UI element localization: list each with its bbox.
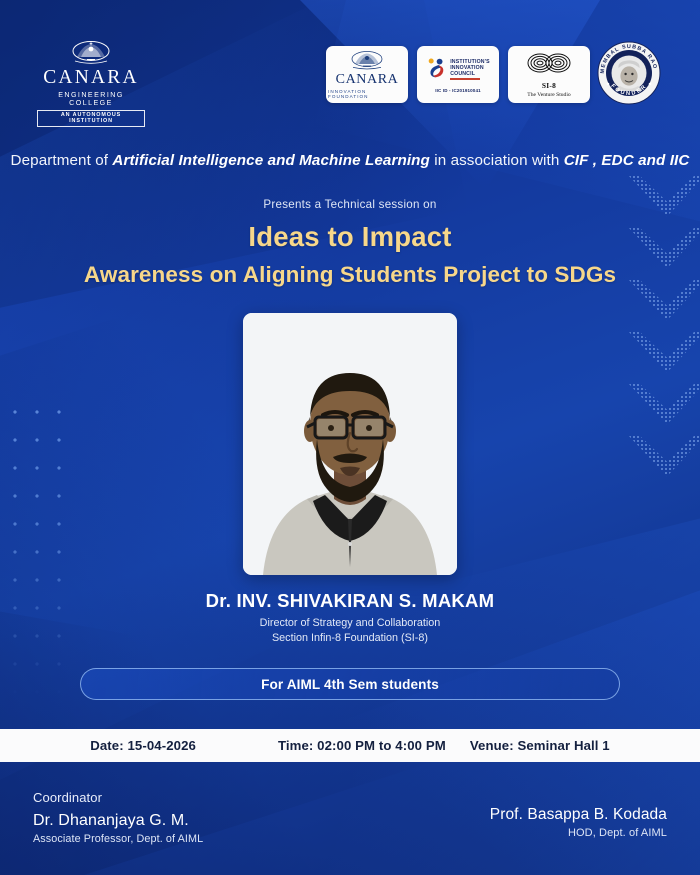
- partner-logo-cif: CANARA INNOVATION FOUNDATION: [326, 46, 408, 103]
- si8-subtitle: The Venture Studio: [527, 92, 570, 98]
- partners-inline: CIF , EDC and IIC: [564, 152, 690, 169]
- tree-crest-icon: [347, 51, 387, 71]
- coordinator-block: Coordinator Dr. Dhananjaya G. M. Associa…: [33, 790, 203, 845]
- cif-subtitle: INNOVATION FOUNDATION: [328, 89, 406, 99]
- speaker-role: Director of Strategy and Collaboration S…: [0, 616, 700, 647]
- cif-name: CANARA: [336, 73, 399, 87]
- infinity-icon: [525, 51, 573, 79]
- college-name: CANARA: [37, 68, 145, 88]
- coordinator-designation: Associate Professor, Dept. of AIML: [33, 833, 203, 845]
- event-info-bar: Date: 15-04-2026 Time: 02:00 PM to 4:00 …: [0, 729, 700, 762]
- speaker-role-line-2: Section Infin-8 Foundation (SI-8): [0, 631, 700, 646]
- college-subtitle: ENGINEERING COLLEGE: [37, 91, 145, 107]
- partner-logo-iic: INSTITUTION'S INNOVATION COUNCIL IIC ID …: [417, 46, 499, 103]
- partner-logo-si8: SI-8 The Venture Studio: [508, 46, 590, 103]
- canara-crest-icon: [37, 40, 145, 66]
- founder-portrait-icon: AMMEMBAL SUBBA RAO PAI FOUNDER: [596, 40, 662, 106]
- speaker-name: Dr. INV. SHIVAKIRAN S. MAKAM: [0, 590, 700, 612]
- department-line: Department of Artificial Intelligence an…: [0, 150, 700, 173]
- chevron-icon: [628, 435, 700, 481]
- founder-badge: AMMEMBAL SUBBA RAO PAI FOUNDER: [596, 40, 662, 106]
- event-date: Date: 15-04-2026: [90, 738, 196, 753]
- coordinator-name: Dr. Dhananjaya G. M.: [33, 812, 203, 830]
- chevron-icon: [628, 383, 700, 429]
- event-time: Time: 02:00 PM to 4:00 PM: [278, 738, 446, 753]
- chevron-icon: [628, 331, 700, 377]
- hod-name: Prof. Basappa B. Kodada: [490, 806, 667, 824]
- event-poster: CANARA ENGINEERING COLLEGE AN AUTONOMOUS…: [0, 0, 700, 875]
- iic-line-3: COUNCIL: [450, 72, 490, 78]
- event-title-main: Ideas to Impact: [0, 221, 700, 253]
- college-logo: CANARA ENGINEERING COLLEGE AN AUTONOMOUS…: [37, 40, 145, 127]
- hod-designation: HOD, Dept. of AIML: [490, 827, 667, 839]
- dept-name: Artificial Intelligence and Machine Lear…: [112, 152, 430, 169]
- speaker-role-line-1: Director of Strategy and Collaboration: [0, 616, 700, 631]
- event-venue: Venue: Seminar Hall 1: [470, 738, 610, 753]
- presents-line: Presents a Technical session on: [0, 198, 700, 211]
- poster-header: CANARA ENGINEERING COLLEGE AN AUTONOMOUS…: [0, 0, 700, 126]
- hod-block: Prof. Basappa B. Kodada HOD, Dept. of AI…: [490, 806, 667, 839]
- audience-badge: For AIML 4th Sem students: [80, 668, 620, 700]
- audience-label: For AIML 4th Sem students: [261, 677, 439, 692]
- college-tagline: AN AUTONOMOUS INSTITUTION: [37, 110, 145, 127]
- partner-logo-group: CANARA INNOVATION FOUNDATION I: [326, 46, 590, 103]
- iic-id-text: IIC ID - IC201910041: [435, 88, 481, 93]
- dept-prefix: Department of: [11, 152, 113, 169]
- speaker-photo: [243, 313, 457, 575]
- event-title-sub: Awareness on Aligning Students Project t…: [0, 262, 700, 288]
- dept-mid: in association with: [430, 152, 564, 169]
- iic-figure-icon: [426, 57, 447, 84]
- coordinator-label: Coordinator: [33, 790, 203, 805]
- iic-divider: [450, 78, 480, 79]
- si8-name: SI-8: [542, 81, 556, 90]
- dot-grid-pattern: [4, 398, 66, 698]
